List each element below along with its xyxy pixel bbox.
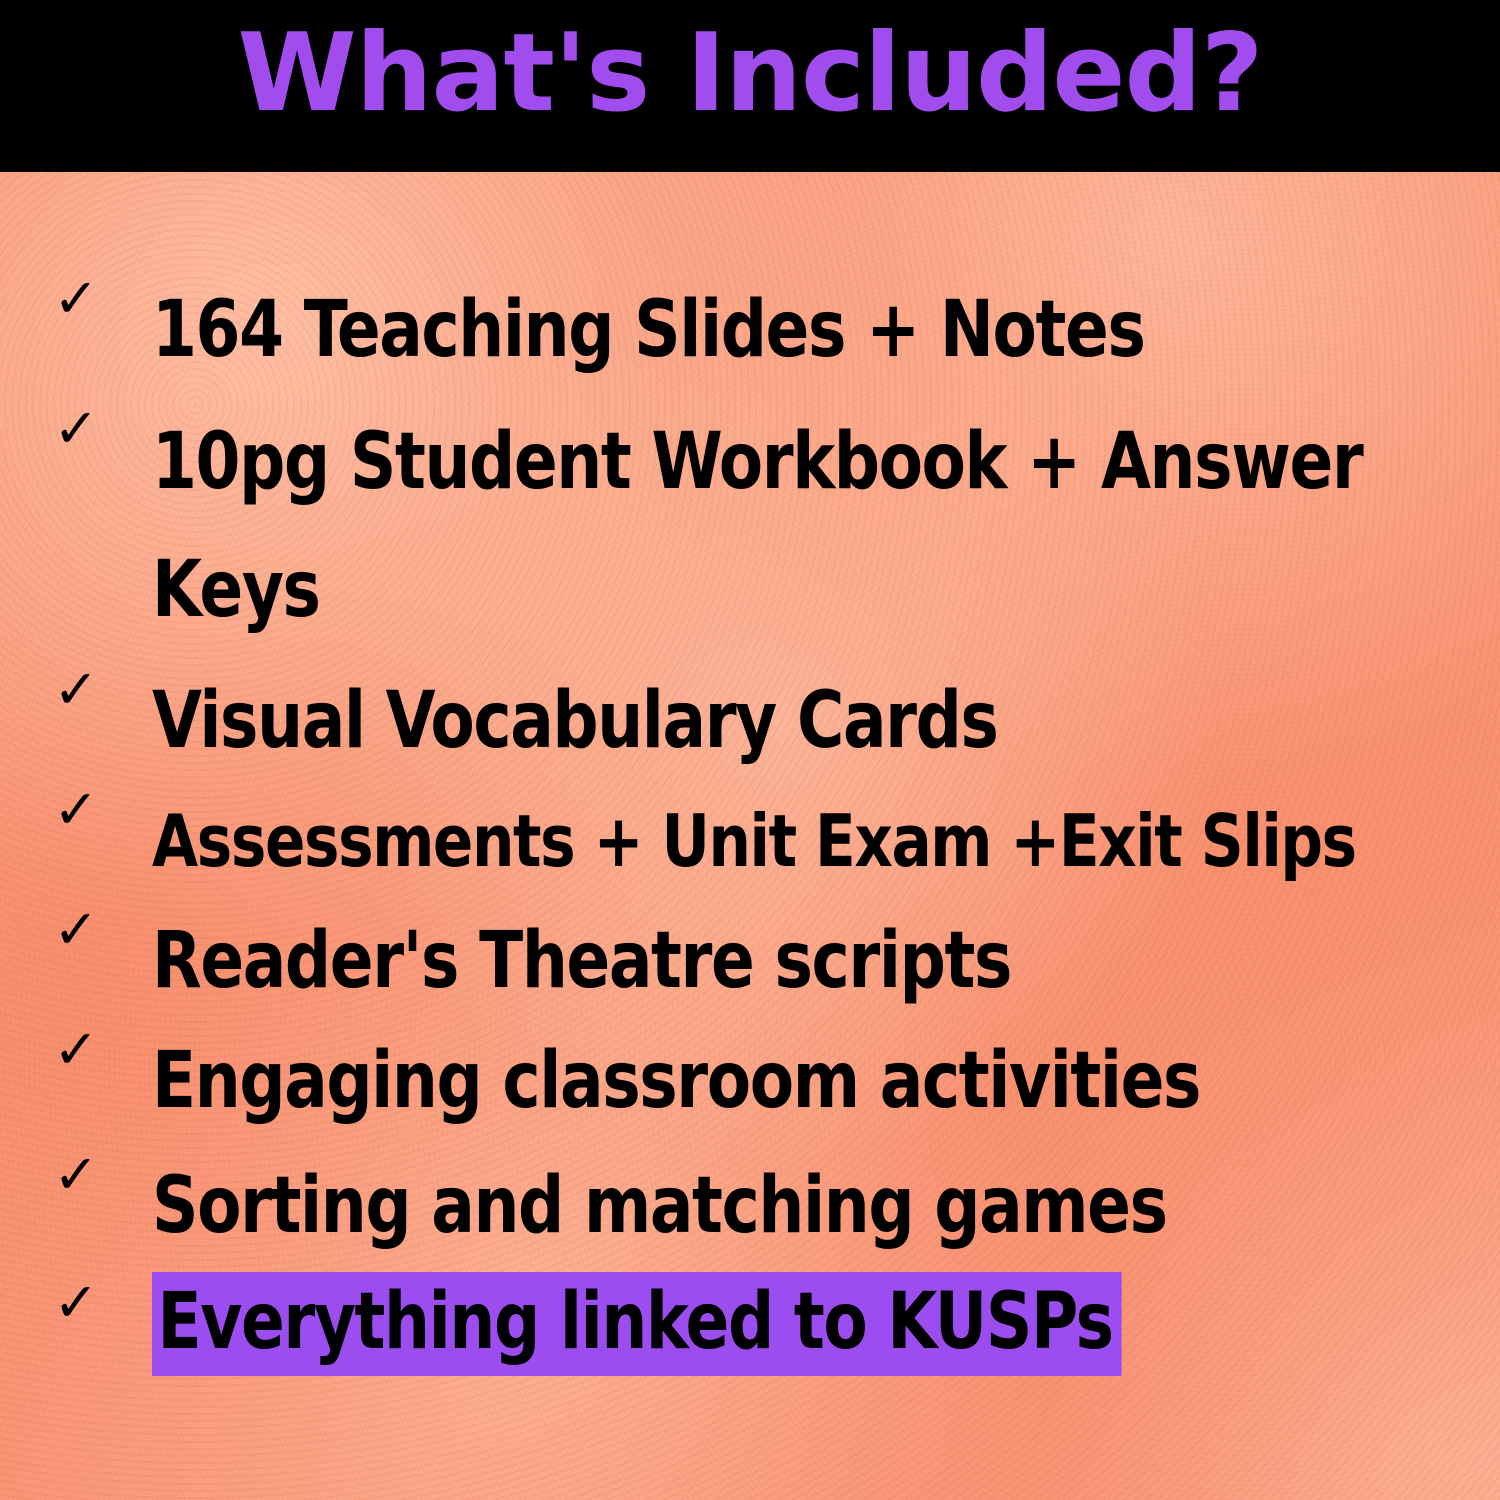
list-item-label: Assessments + Unit Exam +Exit Slips xyxy=(152,779,1376,903)
check-icon: ✓ xyxy=(44,779,108,841)
page-title: What's Included? xyxy=(0,10,1500,138)
slide-canvas: What's Included? ✓ 164 Teaching Slides +… xyxy=(0,0,1500,1500)
list-item-label: Sorting and matching games xyxy=(152,1144,1376,1268)
check-icon: ✓ xyxy=(44,899,108,961)
included-items-list: ✓ 164 Teaching Slides + Notes ✓ 10pg Stu… xyxy=(0,172,1500,1500)
check-icon: ✓ xyxy=(44,659,108,721)
list-item-label: 10pg Student Workbook + Answer Keys xyxy=(152,398,1403,654)
header-band: What's Included? xyxy=(0,0,1500,172)
check-icon: ✓ xyxy=(44,268,108,330)
list-item-label: Reader's Theatre scripts xyxy=(152,899,1376,1023)
check-icon: ✓ xyxy=(44,398,108,460)
list-item-label: Visual Vocabulary Cards xyxy=(152,659,1376,783)
check-icon: ✓ xyxy=(44,1272,108,1334)
list-item-label: Everything linked to KUSPs xyxy=(152,1272,1122,1376)
list-item-label: Engaging classroom activities xyxy=(152,1019,1376,1143)
check-icon: ✓ xyxy=(44,1019,108,1081)
check-icon: ✓ xyxy=(44,1144,108,1206)
list-item-label: 164 Teaching Slides + Notes xyxy=(152,268,1376,392)
highlight-wrapper: Everything linked to KUSPs xyxy=(152,1272,1482,1376)
